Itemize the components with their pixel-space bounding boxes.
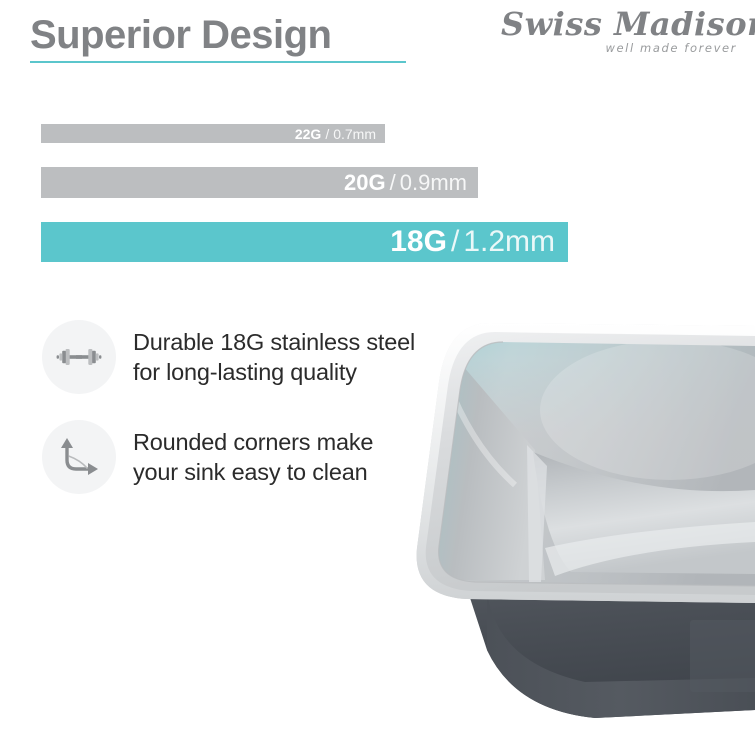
feature-text: Rounded corners make your sink easy to c… [133,427,373,487]
sink-underside-pad [690,620,755,692]
gauge-bar-thickness: 0.7mm [333,126,376,142]
feature-text: Durable 18G stainless steel for long-las… [133,327,415,387]
gauge-bar-label: 18G [390,225,447,259]
gauge-bar-22g: 22G / 0.7mm [41,124,385,143]
gauge-bar-separator: / [321,126,333,142]
brand-tagline: well made forever [501,41,741,55]
feature-text-line-2: for long-lasting quality [133,357,415,387]
feature-icon-background [42,320,116,394]
gauge-bar-18g: 18G / 1.2mm [41,222,568,262]
title-underline [30,61,406,63]
gauge-bar-label: 22G [295,126,321,142]
sink-illustration [395,290,755,755]
rounded-corner-arrow-icon [56,434,102,480]
feature-text-line-1: Rounded corners make [133,427,373,457]
gauge-bar-label: 20G [344,170,386,196]
page-title: Superior Design [30,12,331,58]
gauge-bar-thickness: 1.2mm [463,225,555,259]
feature-text-line-1: Durable 18G stainless steel [133,327,415,357]
feature-item-rounded-corners: Rounded corners make your sink easy to c… [42,420,373,494]
dumbbell-icon [56,344,102,370]
brand-wordmark-text: Swiss Madison [501,5,755,43]
gauge-bar-20g: 20G / 0.9mm [41,167,478,198]
feature-icon-background [42,420,116,494]
product-image-sink [395,290,755,755]
feature-text-line-2: your sink easy to clean [133,457,373,487]
feature-item-durability: Durable 18G stainless steel for long-las… [42,320,415,394]
brand-logo: Swiss Madison® well made forever [501,8,741,66]
brand-wordmark: Swiss Madison® [501,8,741,40]
gauge-bar-separator: / [447,225,463,259]
gauge-bar-separator: / [386,170,400,196]
gauge-bar-thickness: 0.9mm [400,170,467,196]
